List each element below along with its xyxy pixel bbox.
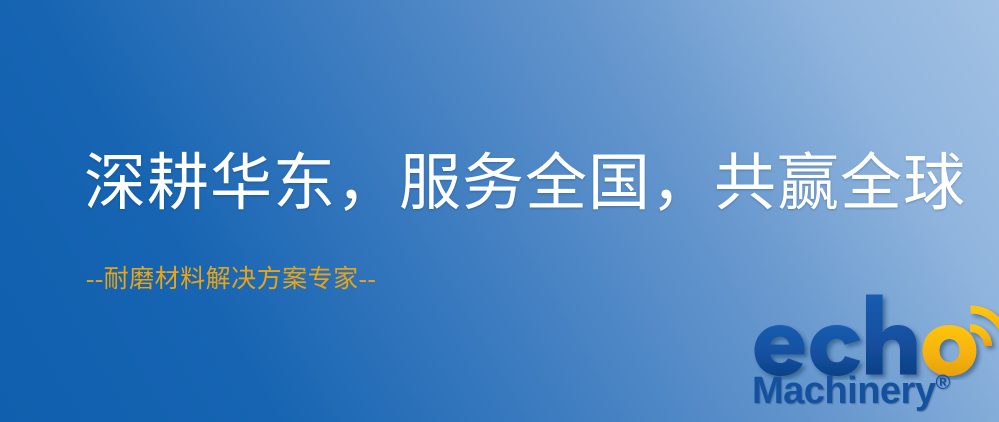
logo-letter-c <box>810 325 860 376</box>
logo-tagline-text: Machinery <box>752 370 935 412</box>
echo-wordmark-icon <box>744 292 999 380</box>
logo-letter-e <box>755 325 805 376</box>
registered-trademark-icon: ® <box>935 372 950 394</box>
echo-machinery-logo: Machinery® <box>744 292 999 422</box>
logo-letter-h <box>866 295 917 375</box>
logo-tagline: Machinery® <box>752 370 950 413</box>
banner-subheadline: --耐磨材料解决方案专家-- <box>86 266 376 294</box>
hero-banner: 深耕华东，服务全国，共赢全球 --耐磨材料解决方案专家-- <box>0 0 999 422</box>
banner-headline: 深耕华东，服务全国，共赢全球 <box>84 152 966 217</box>
logo-letter-o <box>923 325 977 376</box>
